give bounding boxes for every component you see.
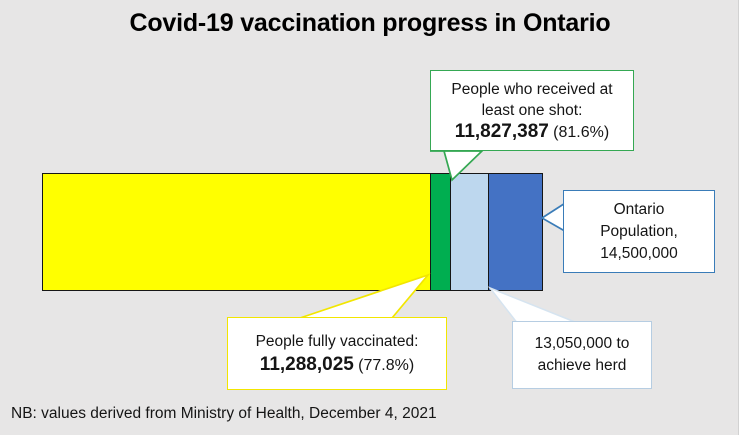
callout-population-line2: Population, bbox=[570, 221, 708, 243]
callout-one-dose: People who received at least one shot: 1… bbox=[430, 70, 634, 151]
callout-population-line1: Ontario bbox=[570, 199, 708, 221]
bar-segment-to-herd-immunity bbox=[450, 173, 490, 291]
one-dose-callout-tail bbox=[424, 146, 554, 186]
callout-population-line3: 14,500,000 bbox=[570, 243, 708, 265]
callout-fully-vaccinated-value: 11,288,025 bbox=[260, 354, 354, 375]
bar-segment-remaining-population bbox=[488, 173, 543, 291]
slide-canvas: Covid-19 vaccination progress in Ontario… bbox=[0, 0, 739, 435]
page-title: Covid-19 vaccination progress in Ontario bbox=[120, 8, 620, 38]
callout-ontario-population: Ontario Population, 14,500,000 bbox=[563, 190, 715, 273]
callout-fully-vaccinated: People fully vaccinated: 11,288,025 (77.… bbox=[227, 317, 447, 390]
source-footnote: NB: values derived from Ministry of Heal… bbox=[11, 405, 437, 423]
callout-herd-line1: 13,050,000 to bbox=[519, 333, 645, 355]
callout-herd-immunity: 13,050,000 to achieve herd bbox=[512, 321, 652, 389]
callout-one-dose-value: 11,827,387 bbox=[455, 121, 549, 142]
callout-fully-vaccinated-percent: (77.8%) bbox=[358, 357, 414, 374]
callout-one-dose-line1: People who received at bbox=[437, 79, 627, 100]
callout-one-dose-line2: least one shot: bbox=[437, 100, 627, 121]
callout-one-dose-percent: (81.6%) bbox=[553, 124, 609, 141]
callout-fully-vaccinated-line1: People fully vaccinated: bbox=[234, 330, 440, 353]
fully-vaccinated-callout-tail bbox=[280, 272, 440, 322]
callout-herd-line2: achieve herd bbox=[519, 355, 645, 377]
